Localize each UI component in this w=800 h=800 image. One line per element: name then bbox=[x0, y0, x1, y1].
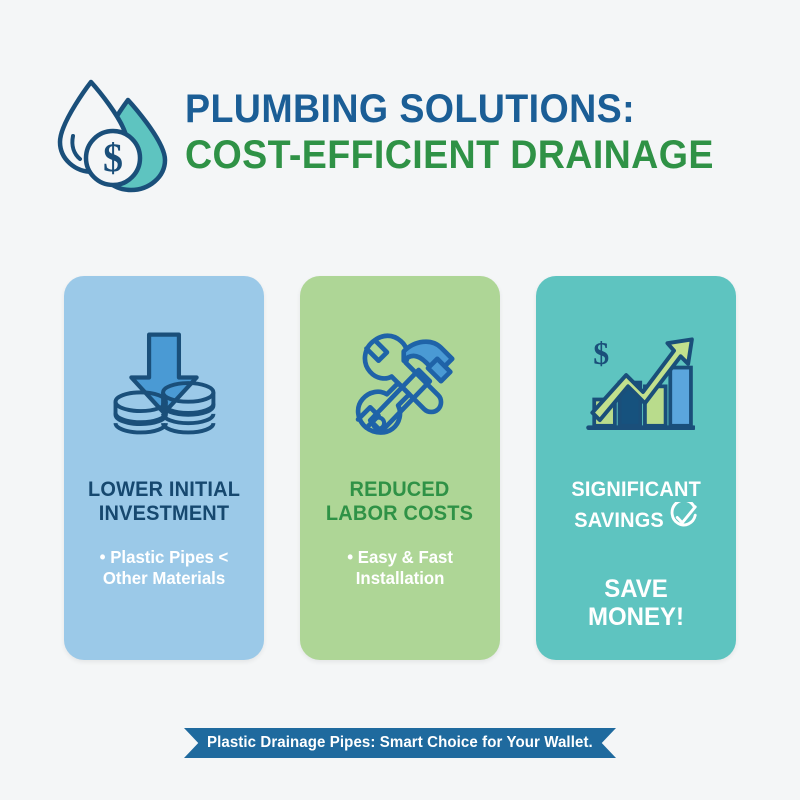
footer-ribbon-text: Plastic Drainage Pipes: Smart Choice for… bbox=[207, 734, 593, 752]
footer-ribbon: Plastic Drainage Pipes: Smart Choice for… bbox=[184, 728, 616, 758]
svg-text:$: $ bbox=[593, 336, 609, 371]
card-reduced-labor-costs[interactable]: REDUCED LABOR COSTS • Easy & Fast Instal… bbox=[300, 276, 500, 660]
title-line-secondary: COST-EFFICIENT DRAINAGE bbox=[185, 132, 714, 178]
title-line-primary: PLUMBING SOLUTIONS: bbox=[185, 86, 714, 132]
svg-text:$: $ bbox=[103, 135, 123, 180]
card-body: SAVE MONEY! bbox=[576, 575, 695, 633]
card-heading-line-1: REDUCED bbox=[326, 478, 473, 502]
card-body-line-2: Installation bbox=[347, 568, 453, 589]
card-heading: SIGNIFICANT SAVINGS bbox=[564, 478, 709, 541]
card-body: • Plastic Pipes < Other Materials bbox=[88, 547, 240, 590]
card-heading-line-2: LABOR COSTS bbox=[326, 502, 473, 526]
card-heading-line-1: LOWER INITIAL bbox=[88, 478, 240, 502]
water-drop-dollar-logo-icon: $ bbox=[53, 74, 171, 194]
card-body-line-1: • Plastic Pipes < bbox=[100, 547, 229, 568]
card-heading-line-1: SIGNIFICANT bbox=[571, 478, 701, 502]
card-lower-initial-investment[interactable]: LOWER INITIAL INVESTMENT • Plastic Pipes… bbox=[64, 276, 264, 660]
card-body-line-2: MONEY! bbox=[588, 603, 684, 632]
card-heading-line-2: INVESTMENT bbox=[88, 502, 240, 526]
card-heading: REDUCED LABOR COSTS bbox=[319, 478, 481, 527]
down-arrow-coin-stacks-icon bbox=[108, 324, 220, 444]
card-heading-line-2: SAVINGS bbox=[574, 509, 664, 533]
benefit-cards: LOWER INITIAL INVESTMENT • Plastic Pipes… bbox=[64, 276, 736, 660]
growth-chart-dollar-icon: $ bbox=[577, 324, 695, 444]
card-significant-savings[interactable]: $ SIGNIFICANT SAVINGS bbox=[536, 276, 736, 660]
header: $ PLUMBING SOLUTIONS: COST-EFFICIENT DRA… bbox=[0, 62, 800, 202]
card-heading: LOWER INITIAL INVESTMENT bbox=[80, 478, 247, 527]
card-body-line-1: SAVE bbox=[588, 575, 684, 604]
circle-check-icon bbox=[669, 502, 698, 538]
card-body-line-2: Other Materials bbox=[100, 568, 229, 589]
card-body-line-1: • Easy & Fast bbox=[347, 547, 453, 568]
wrench-hammer-tools-icon bbox=[344, 324, 456, 444]
card-body: • Easy & Fast Installation bbox=[336, 547, 465, 590]
page-title: PLUMBING SOLUTIONS: COST-EFFICIENT DRAIN… bbox=[185, 86, 748, 179]
